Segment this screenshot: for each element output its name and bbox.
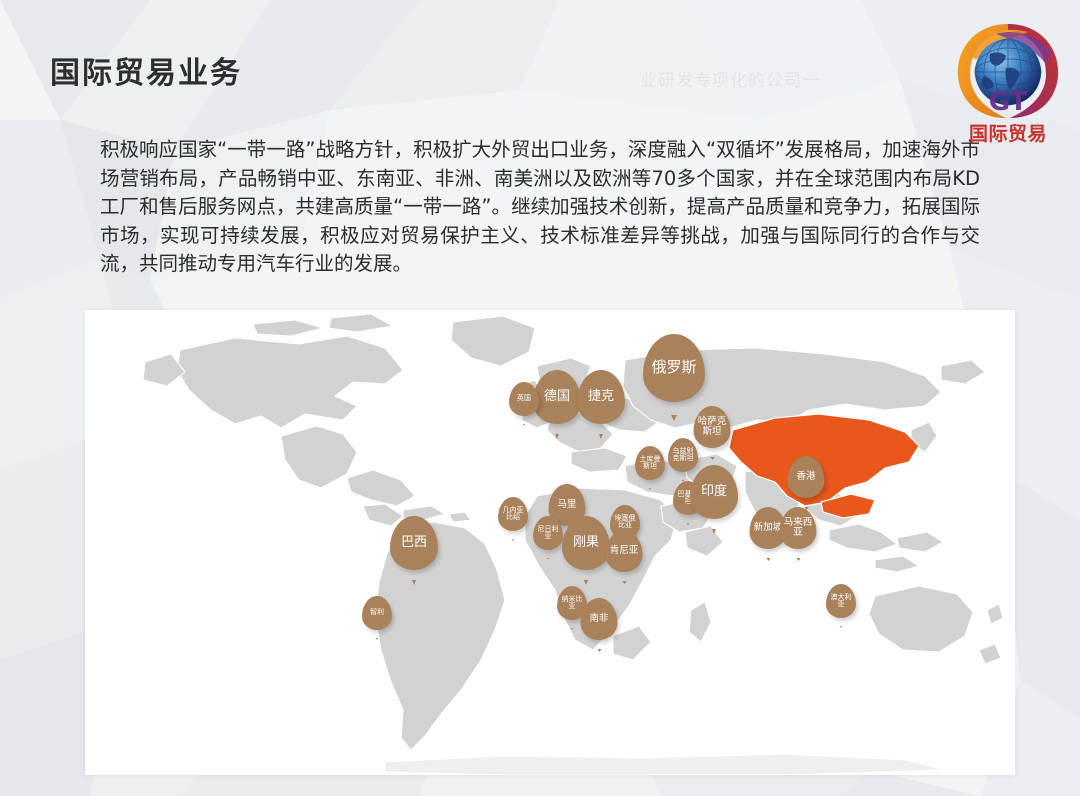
world-map-card: 俄罗斯德国捷克英国哈萨克斯坦乌兹别克斯坦土库曼斯坦巴基斯坦印度香港新加坡马来西亚… — [85, 310, 1015, 775]
map-marker-label: 捷克 — [587, 390, 615, 404]
map-marker-label: 尼日利亚 — [535, 526, 561, 541]
gt-international-trade-logo: GT 国际贸易 — [954, 18, 1062, 146]
map-marker-label: 马来西亚 — [782, 518, 815, 538]
map-marker[interactable]: 英国 — [509, 382, 539, 416]
map-marker-label: 埃塞俄比亚 — [612, 515, 638, 530]
map-marker[interactable]: 巴西 — [390, 516, 438, 570]
logo-letters: GT — [989, 87, 1028, 117]
map-marker-label: 澳大利亚 — [828, 594, 854, 609]
map-marker-label: 智利 — [369, 609, 385, 616]
map-marker-pin: 马来西亚 — [780, 507, 817, 549]
map-marker-pin: 尼日利亚 — [533, 516, 563, 550]
map-marker-pin: 几内亚比绍 — [498, 497, 528, 531]
map-marker-pin: 哈萨克斯坦 — [694, 406, 731, 448]
map-marker[interactable]: 俄罗斯 — [643, 334, 705, 402]
map-marker-label: 肯尼亚 — [609, 546, 640, 556]
map-marker[interactable]: 南非 — [581, 598, 618, 640]
map-marker[interactable]: 尼日利亚 — [533, 516, 563, 550]
map-marker-label: 土库曼斯坦 — [637, 456, 663, 471]
map-marker-label: 几内亚比绍 — [500, 507, 526, 522]
map-marker-pin: 澳大利亚 — [826, 584, 856, 618]
map-marker-pin: 智利 — [362, 596, 392, 630]
map-marker-pin: 巴西 — [390, 516, 438, 570]
map-marker[interactable]: 德国 — [533, 370, 581, 424]
map-marker-pin: 印度 — [690, 465, 738, 519]
map-marker-pin: 肯尼亚 — [606, 530, 643, 572]
map-marker-pin: 刚果 — [562, 516, 610, 570]
map-marker[interactable]: 几内亚比绍 — [498, 497, 528, 531]
map-marker-label: 香港 — [795, 472, 816, 482]
map-marker-label: 乌兹别克斯坦 — [670, 448, 696, 463]
page-title: 国际贸易业务 — [50, 48, 242, 92]
map-marker-pin: 捷克 — [577, 370, 625, 424]
map-marker[interactable]: 印度 — [690, 465, 738, 519]
map-marker[interactable]: 捷克 — [577, 370, 625, 424]
map-marker[interactable]: 香港 — [788, 456, 825, 498]
map-marker-label: 德国 — [543, 390, 571, 404]
map-marker-pin: 德国 — [533, 370, 581, 424]
map-marker[interactable]: 澳大利亚 — [826, 584, 856, 618]
map-marker-label: 马里 — [556, 500, 577, 510]
map-marker-label: 印度 — [700, 485, 728, 499]
logo-caption: 国际贸易 — [969, 122, 1047, 145]
map-marker-label: 俄罗斯 — [650, 360, 697, 376]
map-marker-pin: 土库曼斯坦 — [635, 446, 665, 480]
map-marker[interactable]: 刚果 — [562, 516, 610, 570]
map-marker-pin: 香港 — [788, 456, 825, 498]
background-watermark-text: 业研发专项化的公司一 — [640, 66, 820, 91]
map-marker-label: 英国 — [516, 395, 532, 402]
map-marker-label: 刚果 — [572, 536, 600, 550]
map-marker[interactable]: 智利 — [362, 596, 392, 630]
map-marker-pin: 南非 — [581, 598, 618, 640]
map-marker-pin: 英国 — [509, 382, 539, 416]
map-marker-label: 哈萨克斯坦 — [696, 417, 729, 437]
map-marker[interactable]: 马来西亚 — [780, 507, 817, 549]
map-marker-pin: 俄罗斯 — [643, 334, 705, 402]
map-marker[interactable]: 肯尼亚 — [606, 530, 643, 572]
body-paragraph: 积极响应国家“一带一路”战略方针，积极扩大外贸出口业务，深度融入“双循坏”发展格… — [100, 136, 980, 279]
map-marker-layer: 俄罗斯德国捷克英国哈萨克斯坦乌兹别克斯坦土库曼斯坦巴基斯坦印度香港新加坡马来西亚… — [85, 310, 1015, 775]
map-marker[interactable]: 土库曼斯坦 — [635, 446, 665, 480]
map-marker-label: 巴西 — [400, 536, 428, 550]
map-marker[interactable]: 哈萨克斯坦 — [694, 406, 731, 448]
map-marker-label: 南非 — [588, 614, 609, 624]
